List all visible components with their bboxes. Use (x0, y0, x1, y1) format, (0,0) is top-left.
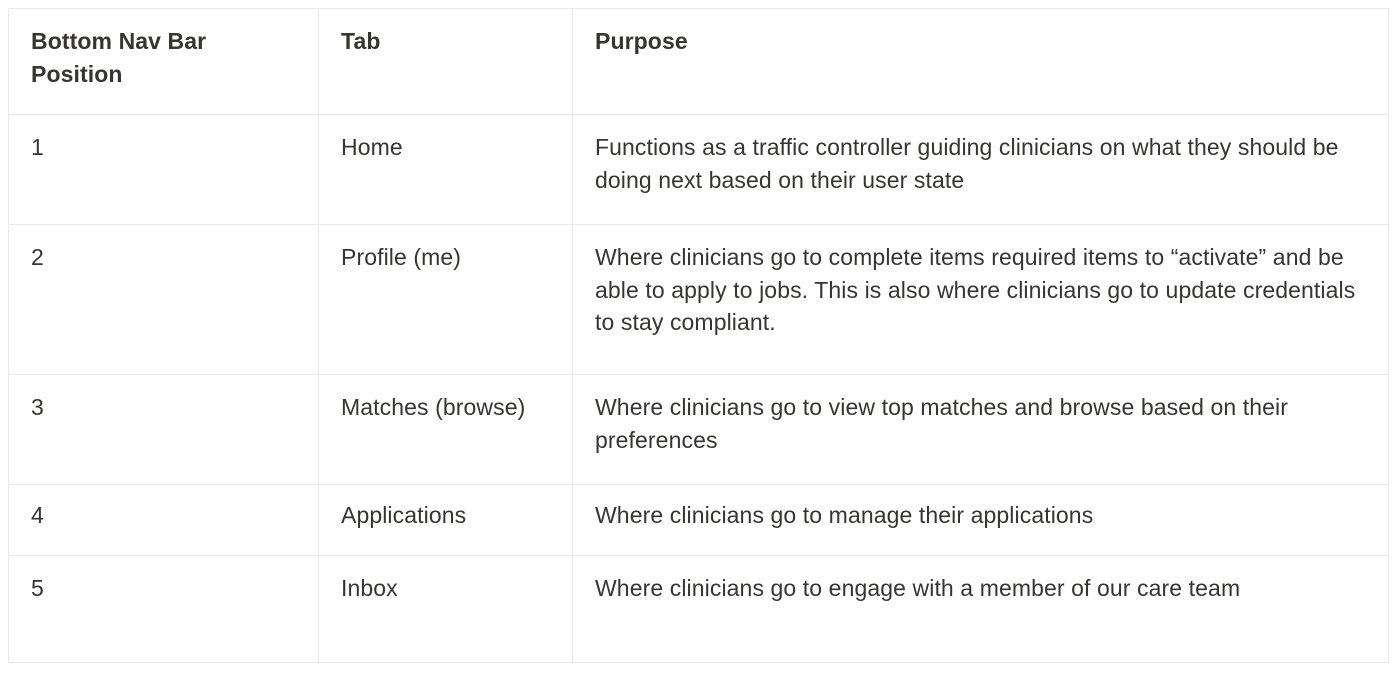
table-container: Bottom Nav Bar Position Tab Purpose 1 Ho… (0, 0, 1396, 674)
column-header-position: Bottom Nav Bar Position (9, 9, 319, 115)
cell-position-value: 5 (31, 572, 298, 605)
cell-tab-value: Profile (me) (341, 241, 552, 274)
cell-position-value: 3 (31, 391, 298, 424)
table-header-row: Bottom Nav Bar Position Tab Purpose (9, 9, 1389, 115)
cell-tab-value: Inbox (341, 572, 552, 605)
table-row: 3 Matches (browse) Where clinicians go t… (9, 375, 1389, 485)
table-row: 1 Home Functions as a traffic controller… (9, 115, 1389, 225)
cell-purpose-value: Functions as a traffic controller guidin… (595, 131, 1368, 196)
cell-tab: Applications (319, 485, 573, 556)
column-header-tab: Tab (319, 9, 573, 115)
cell-purpose-value: Where clinicians go to view top matches … (595, 391, 1368, 456)
cell-purpose-value: Where clinicians go to manage their appl… (595, 499, 1368, 532)
cell-purpose: Where clinicians go to complete items re… (573, 225, 1389, 375)
cell-purpose: Where clinicians go to manage their appl… (573, 485, 1389, 556)
table-row: 4 Applications Where clinicians go to ma… (9, 485, 1389, 556)
column-header-purpose-label: Purpose (595, 25, 1368, 58)
cell-position-value: 1 (31, 131, 298, 164)
column-header-position-label: Bottom Nav Bar Position (31, 25, 298, 90)
table-row: 2 Profile (me) Where clinicians go to co… (9, 225, 1389, 375)
cell-position-value: 4 (31, 499, 298, 532)
cell-tab: Home (319, 115, 573, 225)
table-body: 1 Home Functions as a traffic controller… (9, 115, 1389, 663)
cell-position-value: 2 (31, 241, 298, 274)
cell-purpose-value: Where clinicians go to complete items re… (595, 241, 1368, 339)
cell-tab: Inbox (319, 556, 573, 663)
table-row: 5 Inbox Where clinicians go to engage wi… (9, 556, 1389, 663)
cell-tab: Matches (browse) (319, 375, 573, 485)
cell-purpose: Where clinicians go to view top matches … (573, 375, 1389, 485)
cell-purpose: Functions as a traffic controller guidin… (573, 115, 1389, 225)
bottom-nav-bar-table: Bottom Nav Bar Position Tab Purpose 1 Ho… (8, 8, 1389, 663)
cell-tab-value: Applications (341, 499, 552, 532)
cell-tab-value: Matches (browse) (341, 391, 552, 424)
cell-position: 1 (9, 115, 319, 225)
cell-purpose: Where clinicians go to engage with a mem… (573, 556, 1389, 663)
cell-position: 3 (9, 375, 319, 485)
cell-tab: Profile (me) (319, 225, 573, 375)
column-header-tab-label: Tab (341, 25, 552, 58)
table-header: Bottom Nav Bar Position Tab Purpose (9, 9, 1389, 115)
column-header-purpose: Purpose (573, 9, 1389, 115)
cell-purpose-value: Where clinicians go to engage with a mem… (595, 572, 1368, 605)
cell-position: 2 (9, 225, 319, 375)
cell-tab-value: Home (341, 131, 552, 164)
cell-position: 4 (9, 485, 319, 556)
cell-position: 5 (9, 556, 319, 663)
